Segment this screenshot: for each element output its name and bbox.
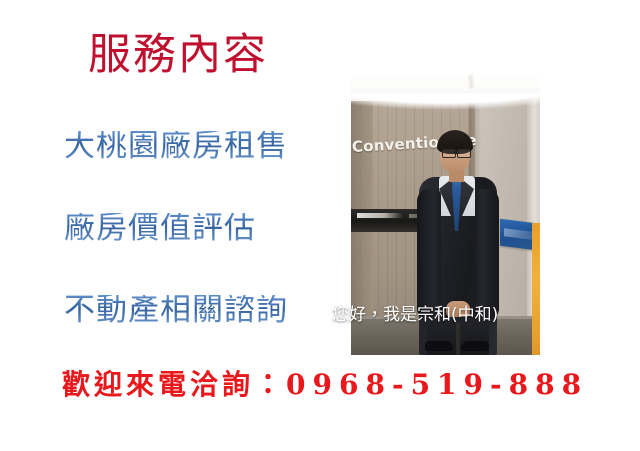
person-arm-left [417,189,441,319]
page-title: 服務內容 [88,34,268,77]
photo-caption: 您好，我是宗和(中和) [332,307,498,324]
contact-call-to-action: 歡迎來電洽詢：0968-519-888 [62,371,588,399]
person-glasses-bridge [453,151,458,153]
person-arm-right [475,189,499,319]
photo-wall-reveal-highlight [357,213,403,218]
person-trouser-gap [456,323,460,355]
service-item-2: 廠房價值評估 [64,213,256,244]
service-item-3: 不動產相關諮詢 [64,295,288,326]
photo-ceiling-curve [351,93,540,119]
service-item-1: 大桃園廠房租售 [64,131,288,162]
cta-phone-number: 0968-519-888 [286,368,588,401]
person-shoe-right [461,341,489,351]
slide-canvas: 服務內容 大桃園廠房租售 廠房價值評估 不動產相關諮詢 Convention C… [0,0,640,451]
person-glasses-right-lens [457,149,471,158]
photo-accent-strip [532,223,540,355]
cta-label: 歡迎來電洽詢： [62,368,286,401]
person-shoe-left [425,341,453,351]
